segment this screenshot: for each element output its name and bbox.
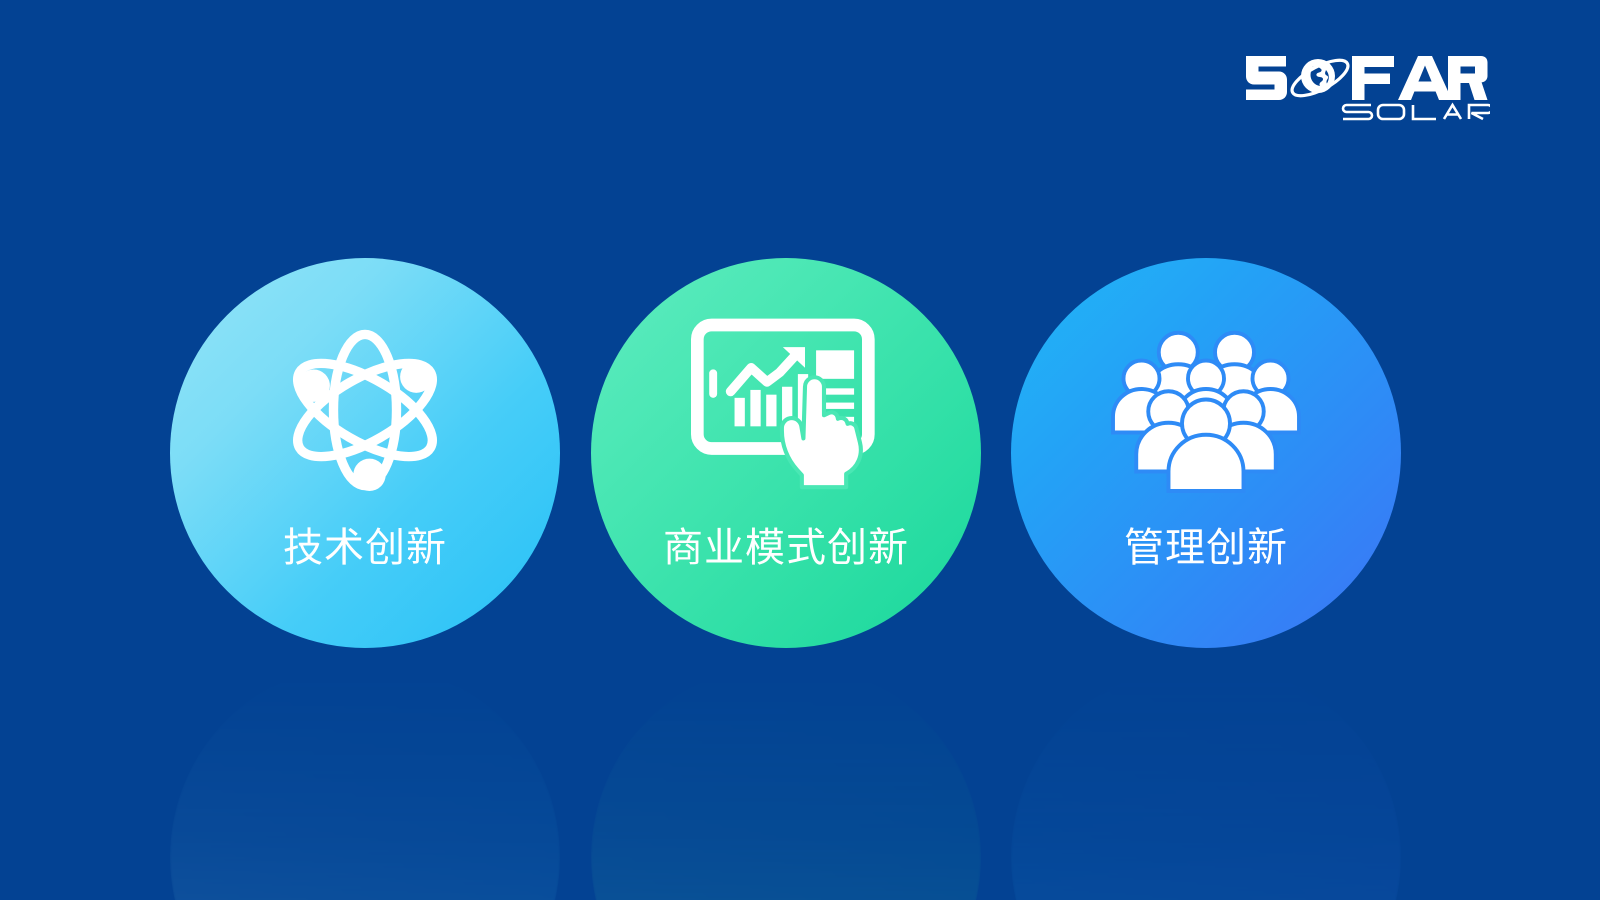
atom-icon: [170, 310, 560, 510]
feature-label-management-innovation: 管理创新: [1011, 526, 1401, 570]
feature-circles-row: 技术创新: [0, 258, 1600, 668]
sofar-solar-logo: [1240, 46, 1490, 126]
circle-background-management: 管理创新: [1011, 258, 1401, 648]
presentation-slide: 技术创新: [0, 0, 1600, 900]
tablet-chart-touch-icon: [591, 310, 981, 510]
feature-card-business-model-innovation[interactable]: 商业模式创新: [591, 258, 981, 648]
reflection-management: [1011, 662, 1401, 900]
circle-background-business: 商业模式创新: [591, 258, 981, 648]
feature-card-technology-innovation[interactable]: 技术创新: [170, 258, 560, 648]
feature-card-management-innovation[interactable]: 管理创新: [1011, 258, 1401, 648]
circle-background-technology: 技术创新: [170, 258, 560, 648]
people-group-icon: [1011, 310, 1401, 510]
circle-reflections: [0, 648, 1600, 900]
reflection-technology: [170, 662, 560, 900]
feature-label-technology-innovation: 技术创新: [170, 526, 560, 570]
reflection-business: [591, 662, 981, 900]
feature-label-business-model-innovation: 商业模式创新: [591, 526, 981, 570]
